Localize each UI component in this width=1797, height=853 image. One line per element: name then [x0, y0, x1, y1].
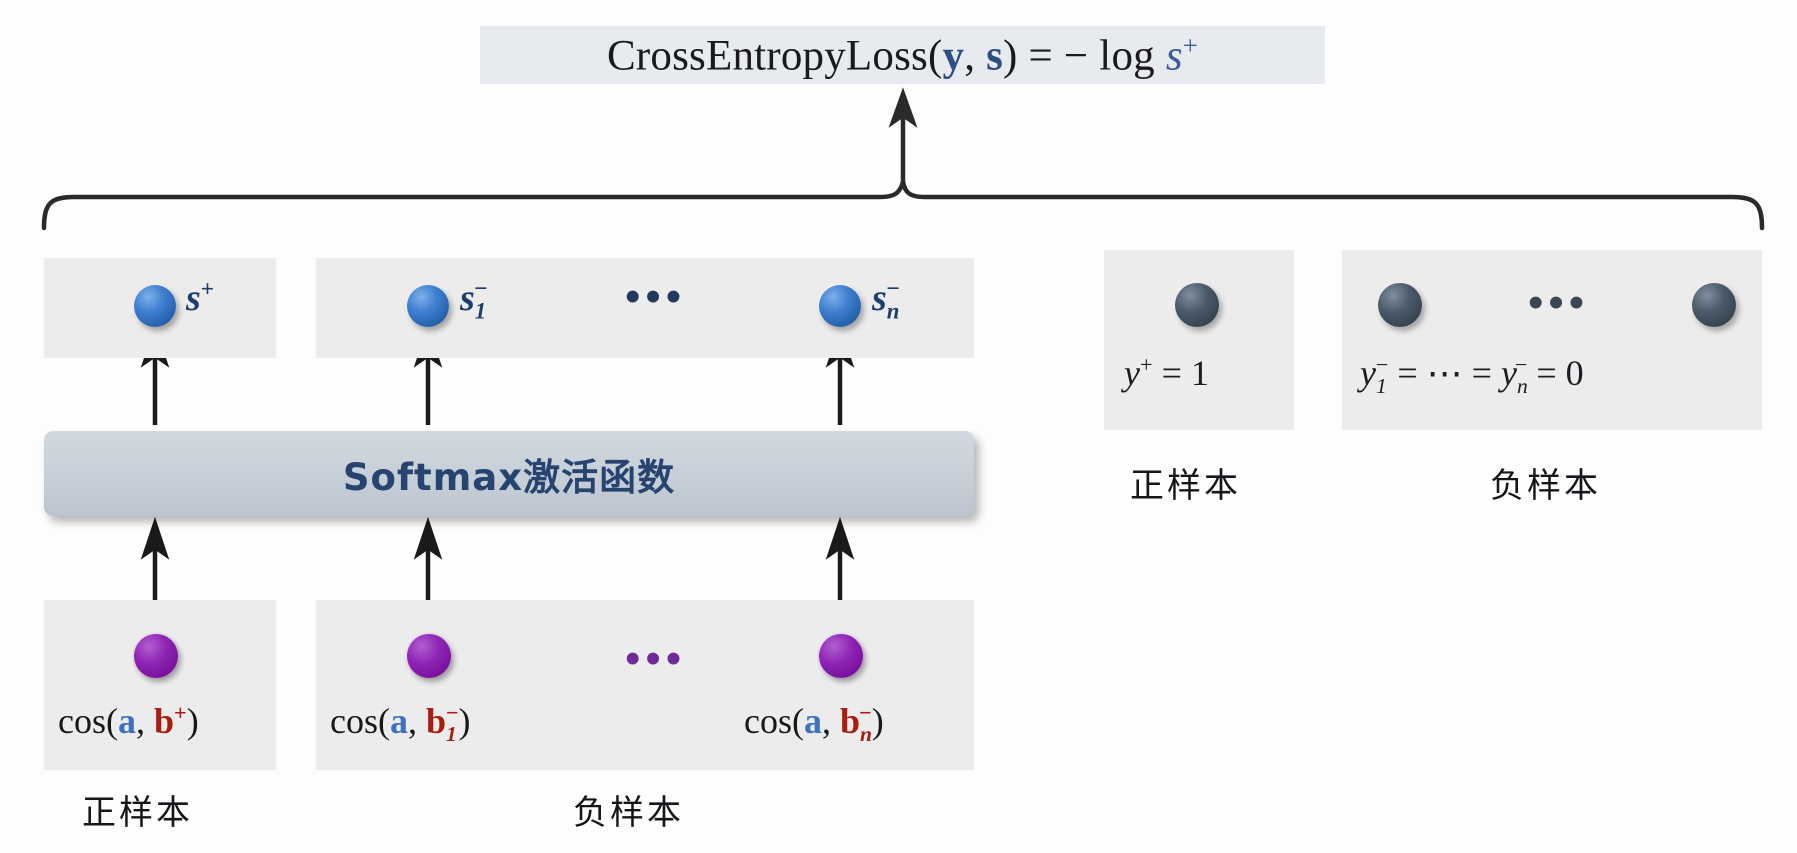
- label-caption-positive: 正样本: [1130, 458, 1241, 507]
- softmax-label: Softmax激活函数: [343, 447, 675, 501]
- cosines-to-softmax-arrows: [145, 524, 850, 600]
- formula-y-vector: y: [942, 32, 964, 79]
- label-row-ellipsis: •••: [1528, 281, 1589, 325]
- cosine-label-negative-1: cos(a, b1−): [330, 700, 471, 747]
- score-row-ellipsis: •••: [625, 275, 686, 319]
- blue-sphere-score-negative-n: [819, 285, 861, 327]
- cosine-label-positive: cos(a, b+): [58, 700, 199, 742]
- purple-sphere-cosine-positive: [134, 634, 178, 678]
- label-panel-negative: [1342, 250, 1762, 430]
- cosine-panel-positive: [44, 600, 276, 770]
- blue-sphere-score-negative-1: [407, 285, 449, 327]
- blue-sphere-score-positive: [134, 285, 176, 327]
- diagram-canvas: CrossEntropyLoss(y, s) = − log s+: [0, 0, 1797, 853]
- label-panel-positive: [1104, 250, 1294, 430]
- loss-formula-text: CrossEntropyLoss(y, s) = − log s+: [607, 30, 1198, 80]
- formula-s-vector: s: [986, 32, 1003, 79]
- cosine-caption-positive: 正样本: [82, 785, 193, 834]
- slate-sphere-label-positive: [1175, 283, 1219, 327]
- formula-middle: ) = − log: [1003, 32, 1166, 79]
- purple-sphere-cosine-negative-n: [819, 634, 863, 678]
- score-label-negative-1: s1−: [460, 276, 488, 325]
- formula-comma: ,: [964, 32, 986, 79]
- ground-truth-label-positive: y+ = 1: [1124, 352, 1209, 394]
- cosine-row-ellipsis: •••: [625, 637, 686, 681]
- purple-sphere-cosine-negative-1: [407, 634, 451, 678]
- score-label-positive: s+: [186, 276, 214, 320]
- softmax-activation-bar: Softmax激活函数: [44, 431, 974, 516]
- slate-sphere-label-negative-n: [1692, 283, 1736, 327]
- label-caption-negative: 负样本: [1490, 458, 1601, 507]
- cosine-caption-negative: 负样本: [573, 785, 684, 834]
- slate-sphere-label-negative-1: [1378, 283, 1422, 327]
- loss-formula-banner: CrossEntropyLoss(y, s) = − log s+: [480, 26, 1325, 84]
- brace-to-loss-arrow: [893, 94, 913, 182]
- cosine-label-negative-n: cos(a, bn−): [744, 700, 884, 747]
- ground-truth-label-negative: y1− = ⋯ = yn− = 0: [1360, 352, 1584, 399]
- score-label-negative-n: sn−: [872, 276, 900, 325]
- top-brace: [44, 182, 1762, 228]
- formula-result-superscript: +: [1183, 30, 1198, 60]
- formula-result-var: s: [1166, 32, 1183, 79]
- formula-prefix: CrossEntropyLoss(: [607, 32, 942, 79]
